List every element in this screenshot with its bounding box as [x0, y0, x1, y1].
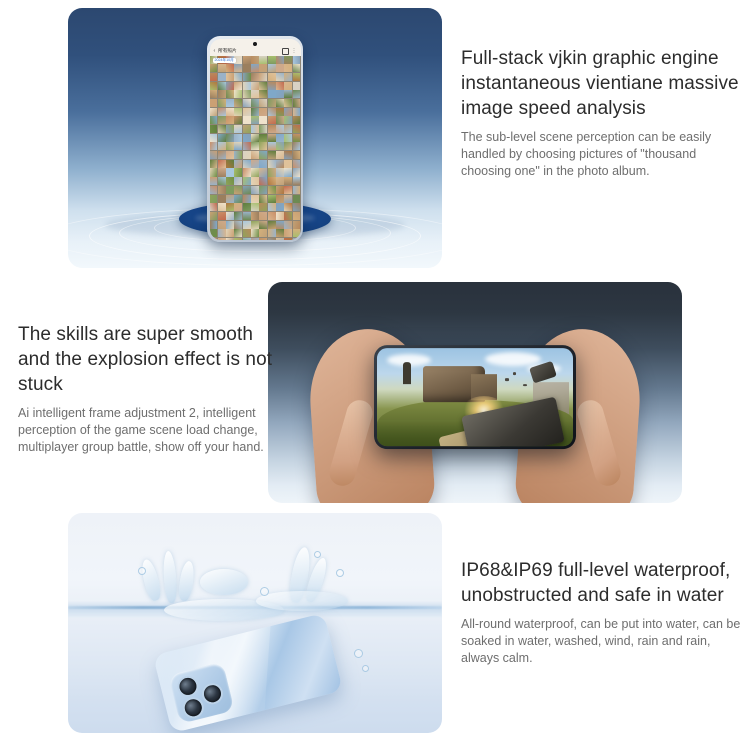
photo-thumbnail[interactable]	[293, 90, 301, 98]
photo-thumbnail[interactable]	[284, 82, 292, 90]
back-icon[interactable]: ‹	[214, 49, 216, 54]
photo-thumbnail[interactable]	[284, 99, 292, 107]
photo-thumbnail[interactable]	[234, 168, 242, 176]
photo-thumbnail[interactable]	[268, 134, 276, 142]
game-screen	[377, 348, 573, 446]
photo-thumbnail[interactable]	[284, 238, 292, 240]
photo-thumbnail[interactable]	[210, 134, 218, 142]
photo-thumbnail[interactable]	[226, 90, 234, 98]
photo-thumbnail[interactable]	[210, 73, 218, 81]
photo-thumbnail[interactable]	[251, 168, 259, 176]
photo-thumbnail[interactable]	[251, 82, 259, 90]
enemy-character	[403, 362, 411, 384]
feature-subtitle: Ai intelligent frame adjustment 2, intel…	[18, 405, 274, 456]
photo-thumbnail[interactable]	[226, 116, 234, 124]
photo-thumbnail[interactable]	[243, 238, 251, 240]
photo-thumbnail[interactable]	[234, 203, 242, 211]
photo-thumbnail[interactable]	[251, 186, 259, 194]
photo-thumbnail[interactable]	[268, 151, 276, 159]
feature-title: IP68&IP69 full-level waterproof, unobstr…	[461, 558, 745, 608]
photo-thumbnail[interactable]	[251, 99, 259, 107]
water-splash	[200, 569, 248, 595]
photo-thumbnail[interactable]	[293, 134, 301, 142]
photo-thumbnail[interactable]	[259, 142, 267, 150]
photo-thumbnail[interactable]	[218, 186, 226, 194]
photo-thumbnail[interactable]	[218, 64, 226, 72]
photo-thumbnail[interactable]	[210, 212, 218, 220]
photo-thumbnail[interactable]	[268, 90, 276, 98]
photo-thumbnail[interactable]	[210, 160, 218, 168]
photo-thumbnail[interactable]	[259, 56, 267, 64]
photo-thumbnail[interactable]	[284, 142, 292, 150]
photo-thumbnail[interactable]	[251, 64, 259, 72]
photo-thumbnail[interactable]	[234, 142, 242, 150]
feature-title: The skills are super smooth and the expl…	[18, 322, 274, 397]
photo-thumbnail[interactable]	[218, 134, 226, 142]
photo-thumbnail[interactable]	[276, 238, 284, 240]
photo-thumbnail[interactable]	[268, 142, 276, 150]
photo-thumbnail[interactable]	[218, 195, 226, 203]
photo-thumbnail[interactable]	[234, 108, 242, 116]
photo-thumbnail[interactable]	[218, 99, 226, 107]
photo-thumbnail[interactable]	[276, 177, 284, 185]
feature-text-waterproof: IP68&IP69 full-level waterproof, unobstr…	[461, 558, 745, 667]
photo-thumbnail[interactable]	[293, 195, 301, 203]
photo-thumbnail[interactable]	[259, 229, 267, 237]
photo-thumbnail[interactable]	[234, 125, 242, 133]
photo-thumbnail[interactable]	[276, 56, 284, 64]
bubble	[314, 551, 321, 558]
photo-thumbnail[interactable]	[276, 142, 284, 150]
water-splash	[256, 591, 348, 611]
photo-thumbnail[interactable]	[226, 168, 234, 176]
camera-lens-icon	[178, 676, 199, 697]
photo-thumbnail[interactable]	[276, 108, 284, 116]
photo-thumbnail[interactable]	[234, 82, 242, 90]
photo-thumbnail[interactable]	[210, 90, 218, 98]
photo-thumbnail[interactable]	[218, 90, 226, 98]
photo-thumbnail[interactable]	[284, 64, 292, 72]
photo-thumbnail[interactable]	[218, 142, 226, 150]
photo-thumbnail[interactable]	[226, 195, 234, 203]
photo-thumbnail[interactable]	[234, 151, 242, 159]
photo-thumbnail[interactable]	[243, 56, 251, 64]
photo-thumbnail[interactable]	[251, 160, 259, 168]
photo-thumbnail[interactable]	[234, 229, 242, 237]
photo-thumbnail[interactable]	[276, 99, 284, 107]
photo-thumbnail[interactable]	[259, 90, 267, 98]
more-options-icon[interactable]: ⋮	[292, 49, 297, 54]
photo-thumbnail[interactable]	[251, 151, 259, 159]
photo-thumbnail[interactable]	[243, 221, 251, 229]
photo-thumbnail[interactable]	[226, 186, 234, 194]
photo-thumbnail[interactable]	[243, 64, 251, 72]
photo-thumbnail[interactable]	[251, 229, 259, 237]
photo-thumbnail[interactable]	[218, 168, 226, 176]
photo-thumbnail[interactable]	[226, 203, 234, 211]
photo-thumbnail[interactable]	[243, 82, 251, 90]
photo-thumbnail[interactable]	[284, 229, 292, 237]
photo-thumbnail[interactable]	[259, 203, 267, 211]
photo-thumbnail[interactable]	[259, 64, 267, 72]
photo-thumbnail[interactable]	[284, 160, 292, 168]
photo-thumbnail[interactable]	[284, 134, 292, 142]
photo-thumbnail[interactable]	[276, 212, 284, 220]
photo-thumbnail[interactable]	[293, 229, 301, 237]
photo-thumbnail[interactable]	[243, 90, 251, 98]
photo-thumbnail[interactable]	[251, 212, 259, 220]
photo-thumbnail[interactable]	[218, 177, 226, 185]
photo-thumbnail[interactable]	[284, 73, 292, 81]
photo-thumbnail[interactable]	[243, 186, 251, 194]
photo-thumbnail[interactable]	[234, 238, 242, 240]
debris-speck	[513, 372, 516, 375]
photo-thumbnail[interactable]	[243, 212, 251, 220]
bubble	[362, 665, 369, 672]
photo-thumbnail[interactable]	[210, 229, 218, 237]
photo-thumbnail[interactable]	[268, 177, 276, 185]
gallery-app-bar: ‹ 所有照片 ⋮	[210, 47, 301, 56]
photo-thumbnail[interactable]	[276, 186, 284, 194]
photo-thumbnail[interactable]	[293, 177, 301, 185]
feature-text-photo-album: Full-stack vjkin graphic engine instanta…	[461, 46, 743, 180]
photo-thumbnail[interactable]	[234, 90, 242, 98]
photo-thumbnail[interactable]	[218, 116, 226, 124]
photo-thumbnail[interactable]	[210, 168, 218, 176]
photo-thumbnail[interactable]	[243, 73, 251, 81]
photo-thumbnail[interactable]	[293, 212, 301, 220]
photo-thumbnail[interactable]	[259, 73, 267, 81]
gallery-title: 所有照片	[218, 49, 236, 54]
photo-thumbnail[interactable]	[276, 90, 284, 98]
photo-thumbnail[interactable]	[234, 73, 242, 81]
photo-thumbnail[interactable]	[243, 134, 251, 142]
photo-thumbnail[interactable]	[276, 151, 284, 159]
photo-thumbnail[interactable]	[243, 177, 251, 185]
photo-thumbnail[interactable]	[293, 168, 301, 176]
photo-thumbnail[interactable]	[234, 195, 242, 203]
photo-thumbnail[interactable]	[284, 221, 292, 229]
camera-lens-icon	[202, 683, 223, 704]
photo-thumbnail[interactable]	[259, 99, 267, 107]
photo-thumbnail[interactable]	[251, 238, 259, 240]
photo-thumbnail[interactable]	[268, 73, 276, 81]
phone-screen: ‹ 所有照片 ⋮ 2024年10月	[210, 39, 301, 240]
photo-thumbnail[interactable]	[226, 221, 234, 229]
photo-thumbnail[interactable]	[226, 151, 234, 159]
photo-thumbnail[interactable]	[226, 142, 234, 150]
photo-thumbnail[interactable]	[218, 151, 226, 159]
photo-thumbnail[interactable]	[259, 116, 267, 124]
photo-thumbnail[interactable]	[218, 82, 226, 90]
photo-thumbnail[interactable]	[293, 82, 301, 90]
photo-thumbnail[interactable]	[226, 212, 234, 220]
photo-thumbnail[interactable]	[268, 56, 276, 64]
photo-thumbnail[interactable]	[234, 99, 242, 107]
photo-thumbnail[interactable]	[251, 203, 259, 211]
camera-lens-icon	[183, 697, 204, 718]
photo-thumbnail[interactable]	[284, 203, 292, 211]
photo-thumbnail[interactable]	[234, 160, 242, 168]
product-feature-page: ‹ 所有照片 ⋮ 2024年10月 Full-stack vjkin graph…	[0, 0, 750, 750]
photo-thumbnail[interactable]	[293, 116, 301, 124]
date-badge: 2024年10月	[213, 58, 236, 63]
photo-thumbnail[interactable]	[210, 195, 218, 203]
photo-thumbnail[interactable]	[251, 195, 259, 203]
phone-portrait: ‹ 所有照片 ⋮ 2024年10月	[207, 36, 303, 242]
photo-thumbnail[interactable]	[243, 108, 251, 116]
photo-thumbnail[interactable]	[226, 64, 234, 72]
photo-thumbnail[interactable]	[210, 99, 218, 107]
photo-thumbnail[interactable]	[293, 73, 301, 81]
photo-thumbnail[interactable]	[243, 125, 251, 133]
photo-thumbnail[interactable]	[293, 203, 301, 211]
photo-thumbnail[interactable]	[218, 125, 226, 133]
feature-image-photo-album: ‹ 所有照片 ⋮ 2024年10月	[68, 8, 442, 268]
photo-thumbnail[interactable]	[268, 195, 276, 203]
photo-thumbnail[interactable]	[284, 195, 292, 203]
photo-thumbnail[interactable]	[284, 116, 292, 124]
photo-thumbnail[interactable]	[259, 221, 267, 229]
feature-image-waterproof	[68, 513, 442, 733]
photo-thumbnail[interactable]	[210, 82, 218, 90]
photo-thumbnail[interactable]	[284, 212, 292, 220]
photo-thumbnail[interactable]	[284, 168, 292, 176]
photo-thumbnail[interactable]	[226, 160, 234, 168]
photo-thumbnail[interactable]	[293, 64, 301, 72]
photo-thumbnail[interactable]	[268, 221, 276, 229]
feature-text-gaming: The skills are super smooth and the expl…	[18, 322, 274, 456]
photo-thumbnail[interactable]	[259, 177, 267, 185]
photo-thumbnail[interactable]	[284, 90, 292, 98]
bubble	[260, 587, 269, 596]
bubble	[354, 649, 363, 658]
photo-thumbnail[interactable]	[284, 151, 292, 159]
cloud	[485, 352, 541, 366]
photo-thumbnail[interactable]	[234, 186, 242, 194]
photo-thumbnail[interactable]	[293, 142, 301, 150]
photo-thumbnail[interactable]	[276, 64, 284, 72]
photo-thumbnail[interactable]	[259, 151, 267, 159]
photo-thumbnail[interactable]	[234, 64, 242, 72]
feature-subtitle: The sub-level scene perception can be ea…	[461, 129, 743, 180]
photo-thumbnail[interactable]	[251, 56, 259, 64]
photo-thumbnail[interactable]	[276, 116, 284, 124]
photo-thumbnail[interactable]	[268, 125, 276, 133]
photo-thumbnail[interactable]	[259, 134, 267, 142]
select-icon[interactable]	[282, 48, 289, 55]
photo-thumbnail[interactable]	[251, 221, 259, 229]
photo-thumbnail[interactable]	[276, 82, 284, 90]
photo-thumbnail[interactable]	[218, 221, 226, 229]
photo-thumbnail[interactable]	[259, 186, 267, 194]
photo-thumbnail[interactable]	[284, 108, 292, 116]
feature-title: Full-stack vjkin graphic engine instanta…	[461, 46, 743, 121]
photo-thumbnail[interactable]	[226, 177, 234, 185]
photo-thumbnail[interactable]	[293, 186, 301, 194]
photo-thumbnail[interactable]	[284, 56, 292, 64]
photo-thumbnail[interactable]	[226, 125, 234, 133]
photo-thumbnail[interactable]	[210, 177, 218, 185]
photo-thumbnail[interactable]	[226, 99, 234, 107]
photo-thumbnail[interactable]	[234, 116, 242, 124]
photo-thumbnail[interactable]	[226, 108, 234, 116]
photo-thumbnail[interactable]	[293, 160, 301, 168]
photo-thumbnail[interactable]	[268, 108, 276, 116]
photo-thumbnail[interactable]	[268, 160, 276, 168]
debris-speck	[505, 378, 509, 381]
photo-thumbnail[interactable]	[276, 134, 284, 142]
photo-thumbnail-grid[interactable]	[210, 56, 301, 240]
photo-thumbnail[interactable]	[268, 99, 276, 107]
photo-thumbnail[interactable]	[210, 108, 218, 116]
photo-thumbnail[interactable]	[210, 116, 218, 124]
photo-thumbnail[interactable]	[276, 229, 284, 237]
photo-thumbnail[interactable]	[284, 186, 292, 194]
photo-thumbnail[interactable]	[251, 125, 259, 133]
photo-thumbnail[interactable]	[293, 221, 301, 229]
photo-thumbnail[interactable]	[251, 116, 259, 124]
photo-thumbnail[interactable]	[210, 221, 218, 229]
photo-thumbnail[interactable]	[293, 125, 301, 133]
photo-thumbnail[interactable]	[259, 160, 267, 168]
photo-thumbnail[interactable]	[234, 221, 242, 229]
photo-thumbnail[interactable]	[218, 229, 226, 237]
photo-thumbnail[interactable]	[293, 99, 301, 107]
photo-thumbnail[interactable]	[226, 82, 234, 90]
photo-thumbnail[interactable]	[251, 108, 259, 116]
photo-thumbnail[interactable]	[268, 82, 276, 90]
photo-thumbnail[interactable]	[226, 238, 234, 240]
photo-thumbnail[interactable]	[210, 238, 218, 240]
photo-thumbnail[interactable]	[268, 64, 276, 72]
phone-landscape	[374, 345, 576, 449]
photo-thumbnail[interactable]	[276, 221, 284, 229]
photo-thumbnail[interactable]	[293, 151, 301, 159]
photo-thumbnail[interactable]	[226, 73, 234, 81]
photo-thumbnail[interactable]	[276, 203, 284, 211]
photo-thumbnail[interactable]	[276, 195, 284, 203]
photo-thumbnail[interactable]	[284, 125, 292, 133]
photo-thumbnail[interactable]	[251, 73, 259, 81]
photo-thumbnail[interactable]	[210, 125, 218, 133]
bubble	[138, 567, 146, 575]
photo-thumbnail[interactable]	[234, 177, 242, 185]
photo-thumbnail[interactable]	[268, 116, 276, 124]
photo-thumbnail[interactable]	[210, 203, 218, 211]
photo-thumbnail[interactable]	[259, 168, 267, 176]
photo-thumbnail[interactable]	[293, 238, 301, 240]
photo-thumbnail[interactable]	[234, 134, 242, 142]
photo-thumbnail[interactable]	[218, 160, 226, 168]
photo-thumbnail[interactable]	[226, 134, 234, 142]
photo-thumbnail[interactable]	[268, 203, 276, 211]
photo-thumbnail[interactable]	[268, 186, 276, 194]
photo-thumbnail[interactable]	[243, 99, 251, 107]
photo-thumbnail[interactable]	[259, 195, 267, 203]
debris-speck	[523, 384, 527, 386]
photo-thumbnail[interactable]	[259, 125, 267, 133]
photo-thumbnail[interactable]	[243, 160, 251, 168]
photo-thumbnail[interactable]	[251, 90, 259, 98]
photo-thumbnail[interactable]	[259, 82, 267, 90]
photo-thumbnail[interactable]	[218, 238, 226, 240]
photo-thumbnail[interactable]	[293, 56, 301, 64]
photo-thumbnail[interactable]	[210, 64, 218, 72]
photo-thumbnail[interactable]	[243, 195, 251, 203]
photo-thumbnail[interactable]	[218, 212, 226, 220]
photo-thumbnail[interactable]	[210, 142, 218, 150]
photo-thumbnail[interactable]	[268, 229, 276, 237]
photo-thumbnail[interactable]	[251, 134, 259, 142]
photo-thumbnail[interactable]	[226, 229, 234, 237]
photo-thumbnail[interactable]	[284, 177, 292, 185]
photo-thumbnail[interactable]	[218, 203, 226, 211]
photo-thumbnail[interactable]	[243, 142, 251, 150]
photo-thumbnail[interactable]	[259, 212, 267, 220]
photo-thumbnail[interactable]	[276, 125, 284, 133]
photo-thumbnail[interactable]	[210, 186, 218, 194]
photo-thumbnail[interactable]	[218, 108, 226, 116]
photo-thumbnail[interactable]	[268, 168, 276, 176]
photo-thumbnail[interactable]	[259, 238, 267, 240]
photo-thumbnail[interactable]	[293, 108, 301, 116]
photo-thumbnail[interactable]	[276, 73, 284, 81]
photo-thumbnail[interactable]	[243, 229, 251, 237]
photo-thumbnail[interactable]	[243, 116, 251, 124]
photo-thumbnail[interactable]	[243, 203, 251, 211]
photo-thumbnail[interactable]	[218, 73, 226, 81]
feature-image-gaming	[268, 282, 682, 503]
photo-thumbnail[interactable]	[259, 108, 267, 116]
photo-thumbnail[interactable]	[276, 160, 284, 168]
photo-thumbnail[interactable]	[268, 238, 276, 240]
photo-thumbnail[interactable]	[210, 151, 218, 159]
photo-thumbnail[interactable]	[243, 168, 251, 176]
photo-thumbnail[interactable]	[251, 142, 259, 150]
feature-subtitle: All-round waterproof, can be put into wa…	[461, 616, 745, 667]
photo-thumbnail[interactable]	[276, 168, 284, 176]
photo-thumbnail[interactable]	[268, 212, 276, 220]
photo-thumbnail[interactable]	[234, 212, 242, 220]
front-camera-icon	[253, 42, 257, 46]
bubble	[336, 569, 344, 577]
photo-thumbnail[interactable]	[251, 177, 259, 185]
photo-thumbnail[interactable]	[243, 151, 251, 159]
